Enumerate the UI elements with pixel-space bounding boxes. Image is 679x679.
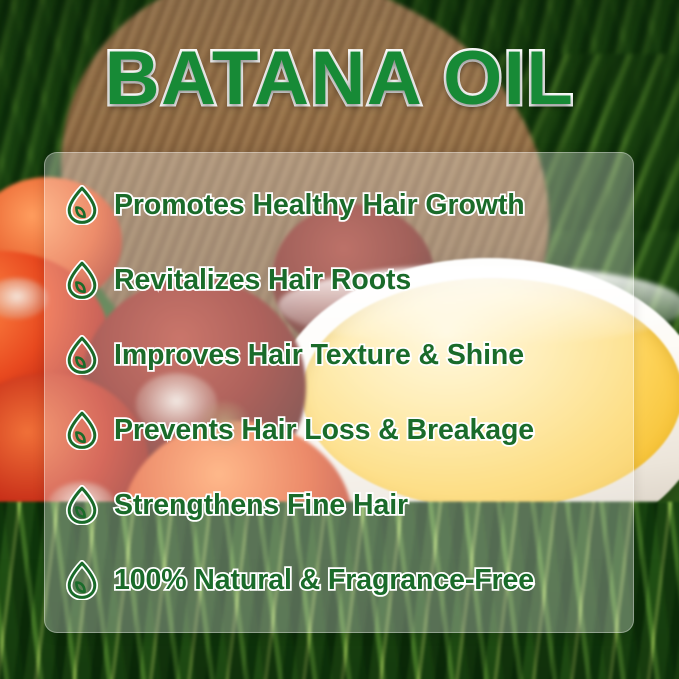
benefit-label: Promotes Healthy Hair Growth	[114, 188, 525, 222]
benefit-label: Strengthens Fine Hair	[114, 488, 408, 522]
benefit-item-6: 100% Natural & Fragrance-Free	[65, 550, 633, 610]
benefit-item-5: Strengthens Fine Hair	[65, 475, 633, 535]
benefit-label: 100% Natural & Fragrance-Free	[114, 563, 534, 597]
benefit-item-4: Prevents Hair Loss & Breakage	[65, 400, 633, 460]
benefit-item-3: Improves Hair Texture & Shine	[65, 325, 633, 385]
benefit-label: Improves Hair Texture & Shine	[114, 338, 524, 372]
oil-drop-icon	[65, 410, 99, 450]
oil-drop-icon	[65, 260, 99, 300]
benefit-label: Revitalizes Hair Roots	[114, 263, 411, 297]
benefit-item-1: Promotes Healthy Hair Growth	[65, 175, 633, 235]
oil-drop-icon	[65, 485, 99, 525]
oil-drop-icon	[65, 560, 99, 600]
benefit-item-2: Revitalizes Hair Roots	[65, 250, 633, 310]
oil-drop-icon	[65, 335, 99, 375]
benefit-label: Prevents Hair Loss & Breakage	[114, 413, 534, 447]
benefits-panel: Promotes Healthy Hair Growth Revitalizes…	[44, 152, 634, 633]
product-poster: BATANA OIL Promotes Healthy Hair Growth …	[0, 0, 679, 679]
page-title: BATANA OIL	[0, 38, 679, 120]
oil-drop-icon	[65, 185, 99, 225]
